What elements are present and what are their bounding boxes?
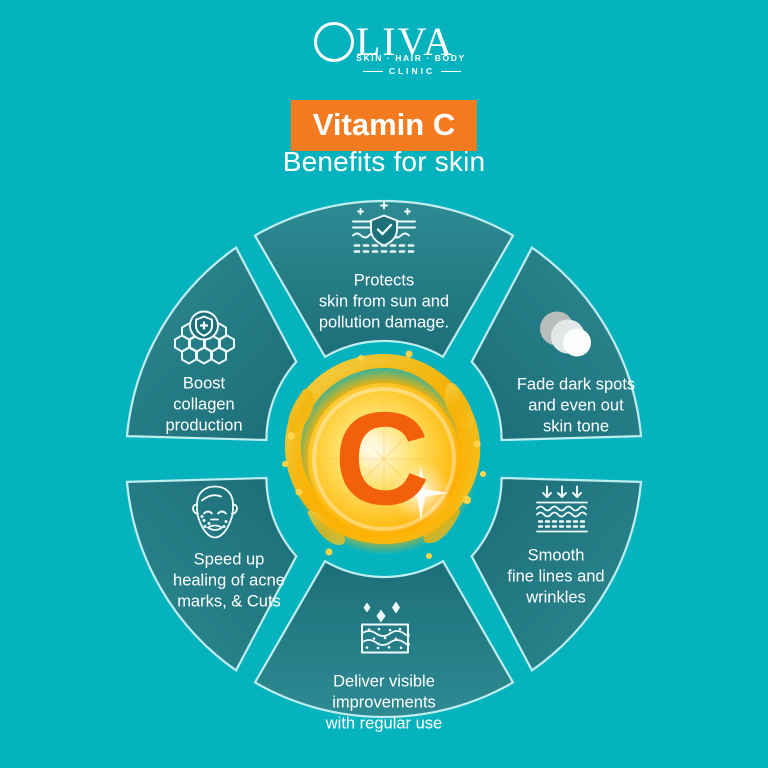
face-acne-marks-icon	[184, 484, 246, 549]
oliva-logo-circle-icon	[314, 22, 354, 62]
logo-tagline: SKIN · HAIR · BODY	[356, 53, 466, 63]
logo-sub-label: CLINIC	[389, 66, 435, 76]
vitamin-c-letter: C	[334, 385, 429, 532]
honeycomb-collagen-shield-icon	[168, 310, 240, 371]
vitamin-c-orb-graphic: C	[269, 344, 499, 574]
fading-spots-circles-icon	[535, 309, 597, 370]
page-title-badge: Vitamin C	[291, 100, 477, 151]
logo-sub: CLINIC	[363, 66, 461, 76]
divider-right	[441, 71, 461, 72]
shield-check-sun-protection-icon	[345, 200, 423, 263]
divider-left	[363, 71, 383, 72]
down-arrows-wrinkle-layers-icon	[531, 484, 593, 541]
vitamin-c-orb: C	[269, 344, 499, 574]
brand-logo: LIVA SKIN · HAIR · BODY CLINIC	[0, 22, 768, 76]
sparkle-skin-layer-icon	[350, 599, 420, 664]
